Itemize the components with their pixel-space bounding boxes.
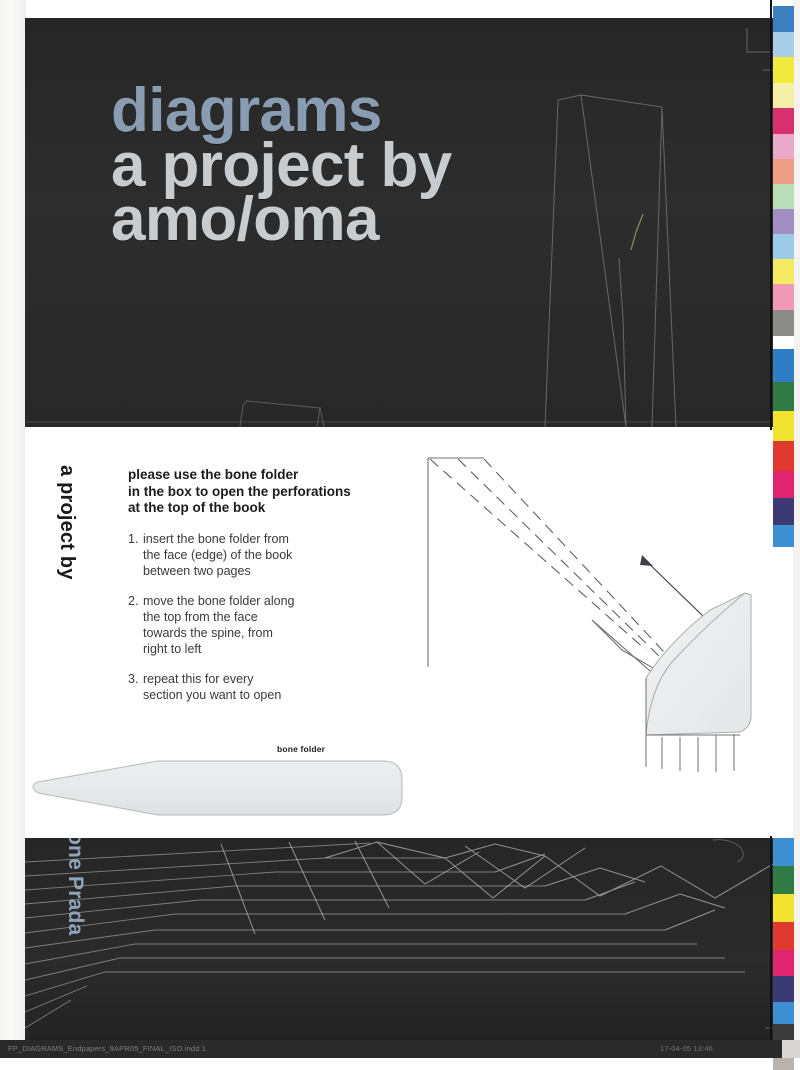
calibration-swatch (773, 894, 794, 922)
calibration-swatch (773, 441, 794, 471)
bone-folder-illustration (30, 757, 410, 819)
calibration-swatch (773, 184, 794, 209)
page-root: diagrams a project by amo/oma a project … (0, 0, 800, 1058)
header-black-panel: diagrams a project by amo/oma (25, 18, 775, 427)
calibration-swatch (773, 234, 794, 259)
calibration-divider-line-bottom (770, 836, 772, 1040)
page-title: diagrams a project by amo/oma (111, 84, 452, 248)
calibration-swatch (773, 866, 794, 894)
instruction-step-2-line-3: towards the spine, from (143, 625, 295, 641)
instructions-heading-line-3: at the top of the book (128, 500, 408, 517)
calibration-swatch (773, 259, 794, 284)
instruction-step-2-line-1: move the bone folder along (143, 593, 295, 609)
calibration-swatch (773, 1002, 794, 1024)
footer-black-panel: one Prada (25, 838, 775, 1040)
instruction-step-3-number: 3. (128, 671, 143, 704)
calibration-swatch (773, 349, 794, 382)
instruction-step-2-text: move the bone folder along the top from … (143, 593, 295, 658)
instructions-block: please use the bone folder in the box to… (128, 467, 408, 716)
calibration-swatch (773, 976, 794, 1002)
calibration-swatch (773, 382, 794, 411)
calibration-swatch (773, 209, 794, 234)
calibration-swatch (773, 108, 794, 134)
instruction-step-1: 1. insert the bone folder from the face … (128, 531, 408, 580)
calibration-swatch (773, 57, 794, 83)
instruction-step-3-text: repeat this for every section you want t… (143, 671, 281, 704)
calibration-swatch (773, 950, 794, 976)
instruction-step-1-line-2: the face (edge) of the book (143, 547, 292, 563)
vertical-label-a-project-by: a project by (55, 465, 78, 580)
calibration-registration-row (773, 336, 794, 349)
paper-right-margin (793, 0, 800, 1040)
title-line-amo-oma: amo/oma (111, 193, 452, 248)
instructions-heading-line-2: in the box to open the perforations (128, 484, 408, 501)
instruction-step-1-line-3: between two pages (143, 563, 292, 579)
calibration-swatch (773, 498, 794, 525)
calibration-swatch (773, 83, 794, 108)
calibration-swatch (773, 6, 794, 32)
calibration-swatch (773, 471, 794, 498)
calibration-divider-line-top (770, 0, 772, 430)
instructions-heading: please use the bone folder in the box to… (128, 467, 408, 517)
book-perforation-diagram (410, 445, 770, 785)
instruction-step-3-line-1: repeat this for every (143, 671, 281, 687)
instruction-step-1-line-1: insert the bone folder from (143, 531, 292, 547)
footer-filename: FP_DIAGRAMS_Endpapers_9APR05_FINAL_ISO.i… (8, 1044, 206, 1053)
calibration-swatch (773, 134, 794, 159)
footer-timestamp: 17-04-05 13:46 (660, 1044, 713, 1053)
paper-left-margin (0, 0, 26, 1040)
calibration-swatch (773, 284, 794, 310)
calibration-swatch (773, 159, 794, 184)
calibration-swatch (773, 310, 794, 336)
instruction-step-2-line-4: right to left (143, 641, 295, 657)
architectural-plan-line-drawing (25, 838, 775, 1040)
calibration-swatch (773, 32, 794, 57)
instruction-white-panel: a project by please use the bone folder … (25, 427, 775, 838)
calibration-swatch (773, 838, 794, 866)
instructions-heading-line-1: please use the bone folder (128, 467, 408, 484)
instruction-step-2: 2. move the bone folder along the top fr… (128, 593, 408, 658)
instruction-step-1-text: insert the bone folder from the face (ed… (143, 531, 292, 580)
instruction-step-3-line-2: section you want to open (143, 687, 281, 703)
vertical-label-fondazione-prada: one Prada (63, 838, 87, 935)
calibration-swatch (773, 411, 794, 441)
calibration-swatch (773, 922, 794, 950)
bone-folder-label: bone folder (277, 744, 325, 754)
instruction-step-2-number: 2. (128, 593, 143, 658)
instruction-step-2-line-2: the top from the face (143, 609, 295, 625)
footer-corner-swatch (782, 1040, 800, 1058)
instruction-step-1-number: 1. (128, 531, 143, 580)
print-colour-calibration-strip-top (773, 6, 794, 547)
print-colour-calibration-strip-bottom (773, 838, 794, 1070)
calibration-swatch (773, 525, 794, 547)
instruction-step-3: 3. repeat this for every section you wan… (128, 671, 408, 704)
